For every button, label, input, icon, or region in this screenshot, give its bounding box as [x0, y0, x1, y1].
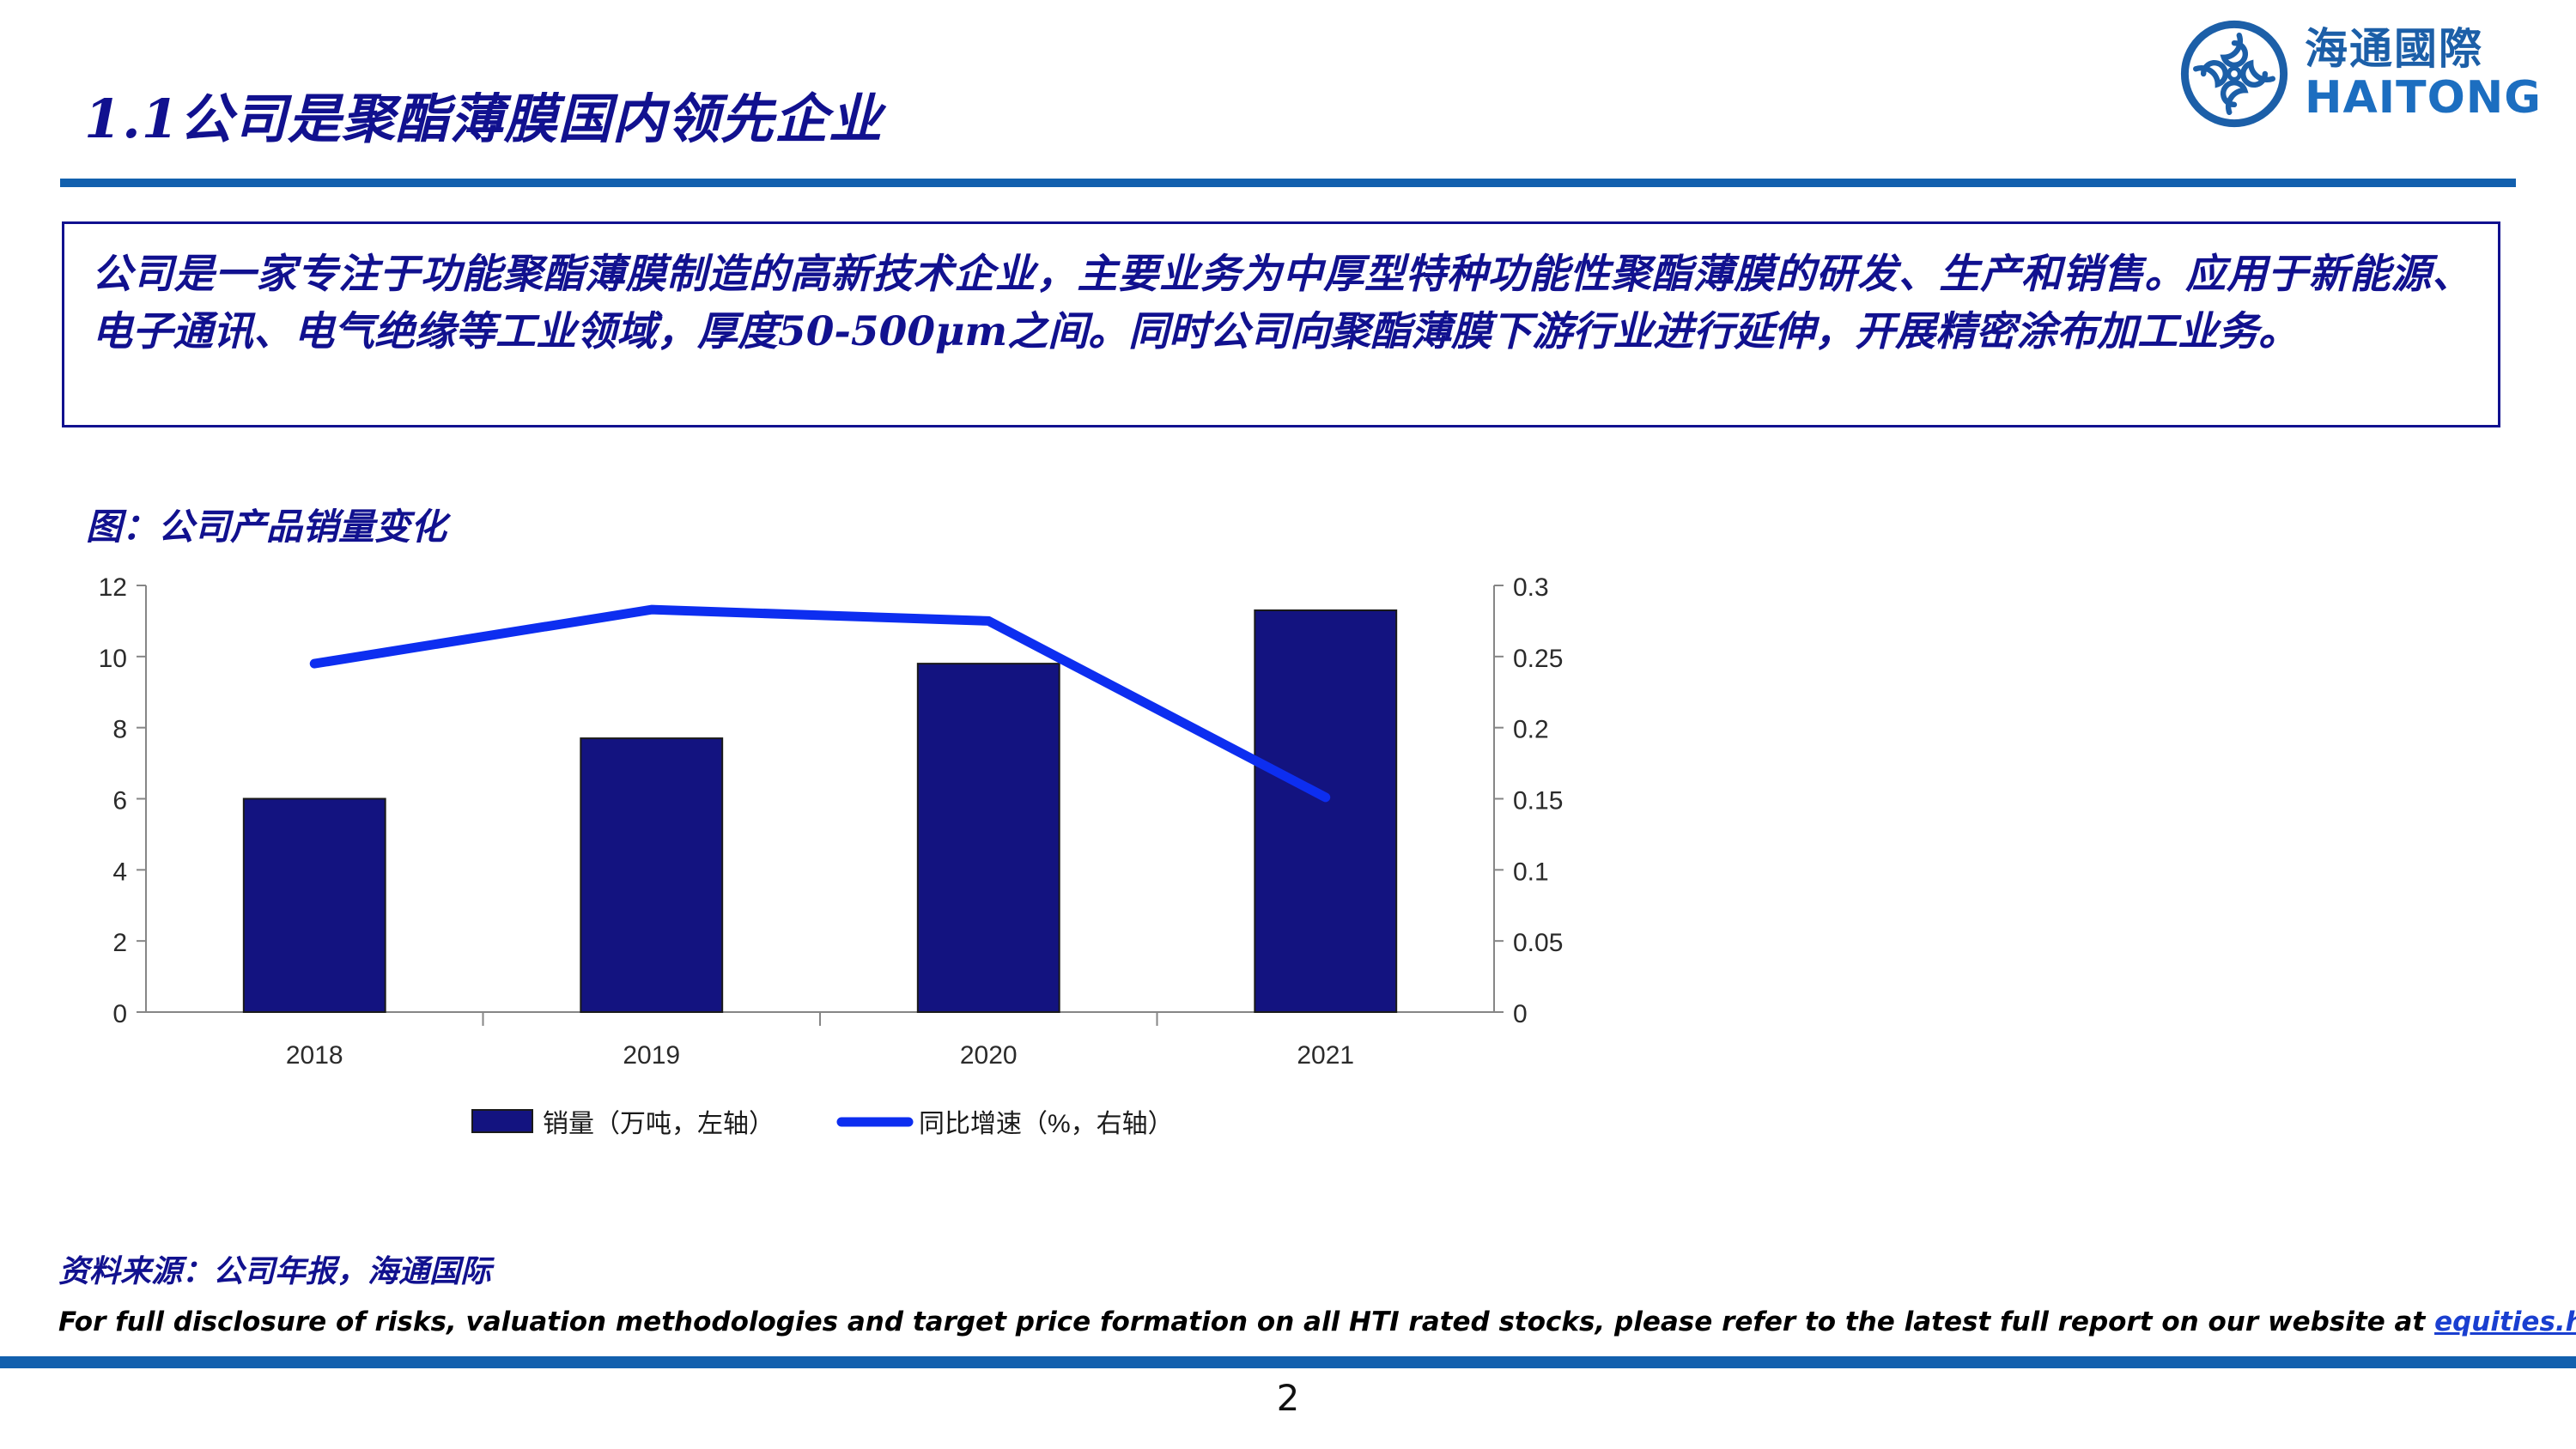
x-axis-tick-label: 2021 [1297, 1041, 1354, 1070]
disclosure-note: For full disclosure of risks, valuation … [58, 1307, 2514, 1337]
left-axis-tick-label: 12 [99, 573, 127, 602]
left-axis-tick-label: 8 [112, 716, 127, 744]
source-note: 资料来源：公司年报，海通国际 [58, 1246, 491, 1291]
summary-text: 公司是一家专注于功能聚酯薄膜制造的高新技术企业，主要业务为中厚型特种功能性聚酯薄… [92, 246, 2472, 361]
sales-volume-chart: 02468101200.050.10.150.20.250.3201820192… [52, 567, 1597, 1167]
bar [580, 738, 722, 1012]
right-axis-tick-label: 0.1 [1513, 858, 1549, 886]
x-axis-tick-label: 2018 [286, 1041, 343, 1070]
left-axis-tick-label: 0 [112, 1000, 127, 1028]
right-axis-tick-label: 0.25 [1513, 645, 1563, 673]
page-number: 2 [0, 1377, 2576, 1419]
bar [918, 664, 1060, 1012]
right-axis-tick-label: 0.2 [1513, 716, 1549, 744]
legend-label-line: 同比增速（%，右轴） [919, 1110, 1174, 1138]
slide-header: 1.1公司是聚酯薄膜国内领先企业 海通國際 HAITONG [0, 0, 2576, 197]
bar [1255, 610, 1396, 1012]
left-axis-tick-label: 6 [112, 787, 127, 815]
left-axis-tick-label: 10 [99, 645, 127, 673]
right-axis-tick-label: 0.15 [1513, 787, 1563, 815]
left-axis-tick-label: 2 [112, 929, 127, 957]
x-axis-tick-label: 2019 [623, 1041, 680, 1070]
haitong-swirl-icon [2179, 19, 2289, 129]
logo-english-text: HAITONG [2305, 76, 2542, 120]
right-axis-tick-label: 0.05 [1513, 929, 1563, 957]
footer-divider [0, 1356, 2576, 1368]
title-divider [60, 179, 2516, 187]
growth-rate-line [314, 609, 1326, 797]
disclosure-link[interactable]: equities.htisec.com [2434, 1307, 2576, 1337]
right-axis-tick-label: 0.3 [1513, 573, 1549, 602]
bar [244, 799, 386, 1013]
page-title: 1.1公司是聚酯薄膜国内领先企业 [84, 76, 883, 153]
right-axis-tick-label: 0 [1513, 1000, 1528, 1028]
chart-canvas: 02468101200.050.10.150.20.250.3201820192… [52, 567, 1597, 1167]
legend-swatch-bar [472, 1110, 532, 1132]
haitong-logo: 海通國際 HAITONG [2179, 19, 2542, 129]
legend-label-bar: 销量（万吨，左轴） [543, 1110, 775, 1138]
summary-callout-box: 公司是一家专注于功能聚酯薄膜制造的高新技术企业，主要业务为中厚型特种功能性聚酯薄… [62, 221, 2500, 427]
left-axis-tick-label: 4 [112, 858, 127, 886]
chart-caption: 图：公司产品销量变化 [86, 498, 447, 550]
x-axis-tick-label: 2020 [960, 1041, 1018, 1070]
logo-chinese-text: 海通國際 [2305, 27, 2542, 70]
disclosure-text: For full disclosure of risks, valuation … [58, 1307, 2434, 1337]
